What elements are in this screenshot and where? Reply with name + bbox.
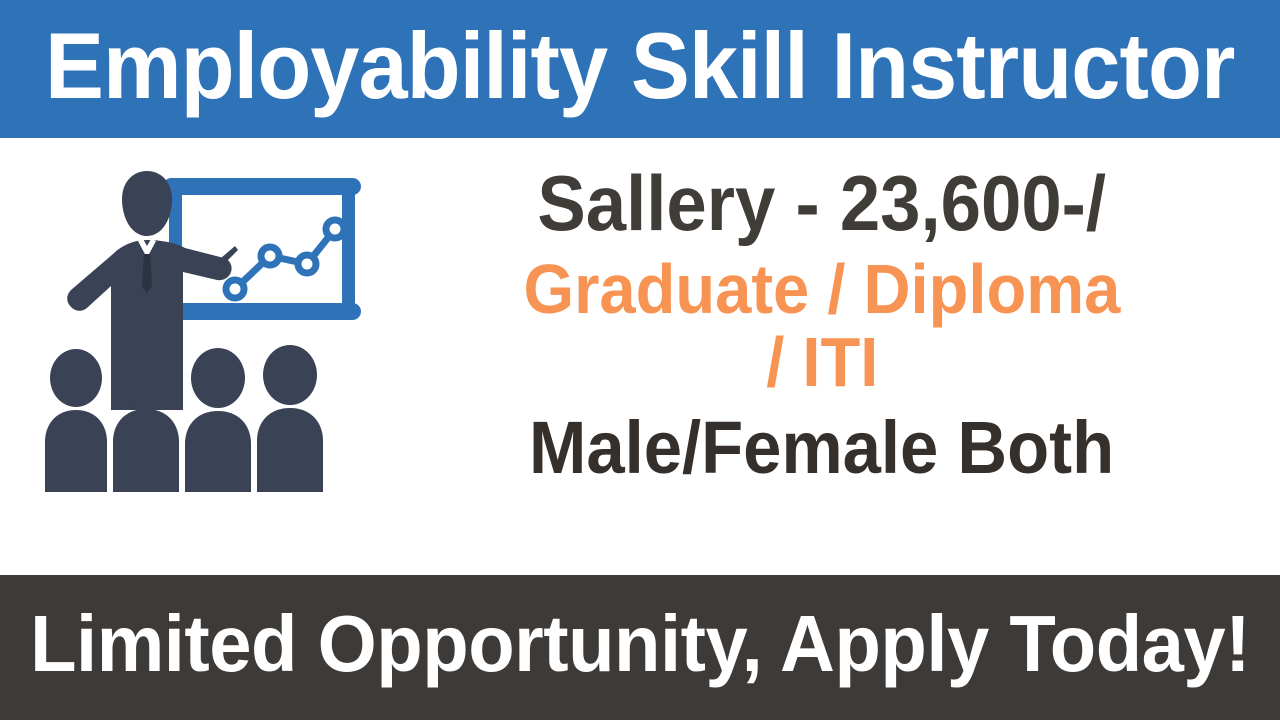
- instructor-presentation-icon: [45, 162, 375, 502]
- call-to-action-text: Limited Opportunity, Apply Today!: [30, 604, 1250, 692]
- illustration-container: [0, 138, 420, 502]
- salary-line: Sallery - 23,600-/: [538, 164, 1107, 244]
- gender-line: Male/Female Both: [529, 410, 1114, 485]
- header-banner: Employability Skill Instructor: [0, 0, 1280, 138]
- body-content: Sallery - 23,600-/ Graduate / Diploma / …: [0, 138, 1280, 575]
- job-advertisement-poster: Employability Skill Instructor: [0, 0, 1280, 720]
- qualification-line-1: Graduate / Diploma: [524, 254, 1121, 325]
- qualification-line-2: / ITI: [766, 327, 878, 398]
- details-text-column: Sallery - 23,600-/ Graduate / Diploma / …: [420, 138, 1280, 486]
- page-title: Employability Skill Instructor: [45, 19, 1234, 119]
- audience-figures-icon: [45, 345, 323, 492]
- line-chart-icon: [235, 229, 335, 289]
- footer-banner: Limited Opportunity, Apply Today!: [0, 575, 1280, 720]
